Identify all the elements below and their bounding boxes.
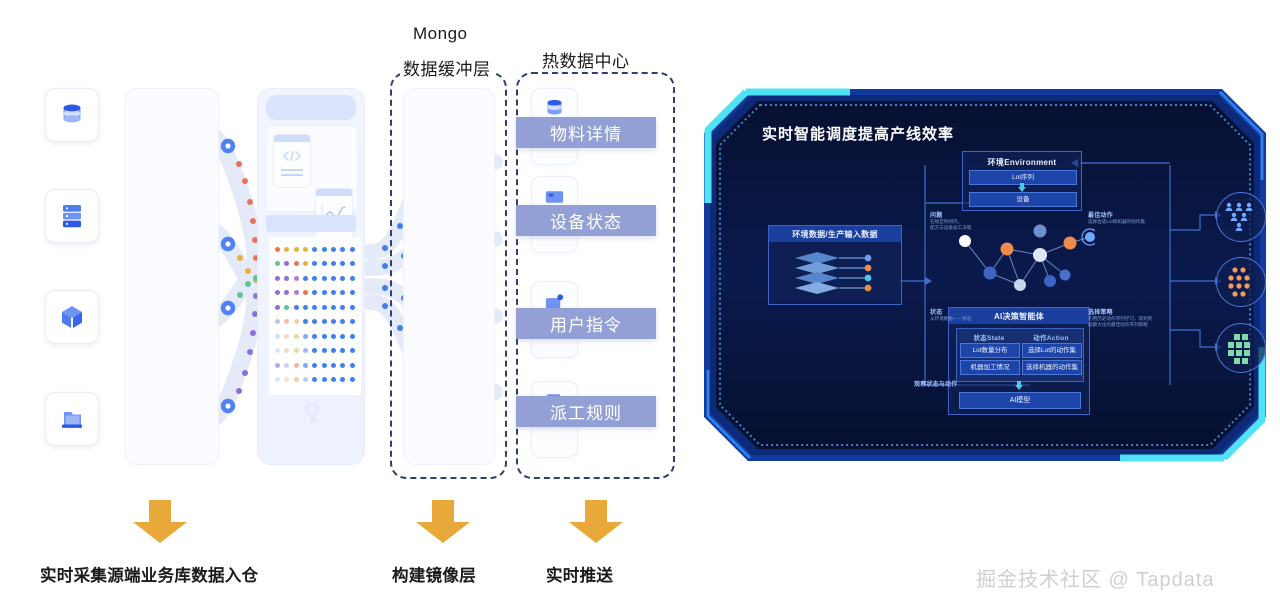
- down-arrow-icon: [1014, 381, 1024, 390]
- note-state: 状态 从环境数据——状态: [930, 307, 990, 322]
- zone-mongo-label-line1: Mongo: [413, 24, 467, 44]
- environment-title: 环境Environment: [963, 157, 1081, 168]
- note-policy-body: 利用历史动作序列学习，得到奖励最大化的最佳动作序列策略: [1088, 316, 1154, 328]
- output-badge-people: [1216, 192, 1266, 242]
- environment-box: 环境Environment Lot序列 设备: [962, 151, 1082, 211]
- tapdata-logo: [302, 401, 322, 425]
- folder-icon: [58, 406, 86, 432]
- squares-icon: [1225, 332, 1257, 364]
- watermark: 掘金技术社区 @ Tapdata: [976, 563, 1215, 592]
- ai-agent-title: AI决策智能体: [994, 311, 1044, 322]
- ai-model-chip[interactable]: AI模型: [959, 392, 1081, 409]
- caption-2: 实时推送: [546, 562, 613, 586]
- tower-screen: [266, 125, 358, 212]
- agent-col-head-1: 动作Action: [1021, 332, 1081, 342]
- note-problem-title: 问题: [930, 210, 990, 219]
- device-icon: [543, 187, 566, 207]
- agent-state-item-1[interactable]: 机器加工情况: [960, 360, 1020, 375]
- diagram-canvas: Mongo 数据缓冲层 热数据中心 物料详情 设备状态 用户指令 派工规则: [0, 0, 1280, 612]
- agent-state-item-0[interactable]: Lot数量分布: [960, 343, 1020, 358]
- zone-mongo-buffer: [390, 72, 507, 479]
- input-data-title: 环境数据/生产输入数据: [792, 229, 878, 240]
- stacked-layers-icon: [791, 248, 881, 298]
- agent-col-head-0: 状态State: [959, 332, 1019, 342]
- note-problem-body: 在规定时间内， 配方与设备加工决策: [930, 219, 990, 231]
- hot-card-label-0[interactable]: 物料详情: [516, 117, 656, 148]
- note-best-action-title: 最佳动作: [1088, 210, 1150, 219]
- hot-card-label-2[interactable]: 用户指令: [516, 308, 656, 339]
- arrow-2: [563, 500, 629, 544]
- code-icon: [282, 150, 302, 162]
- caption-0: 实时采集源端业务库数据入仓: [40, 562, 258, 586]
- server-icon: [59, 202, 85, 230]
- dots-icon: [1225, 266, 1257, 298]
- note-observe: 观察状态与动作: [914, 379, 957, 388]
- caption-1: 构建镜像层: [392, 562, 476, 586]
- note-best-action: 最佳动作 选择合适Lot和机器的动作集: [1088, 210, 1150, 225]
- note-problem: 问题 在规定时间内， 配方与设备加工决策: [930, 210, 990, 231]
- zone-hot-label: 热数据中心: [538, 47, 634, 72]
- database-icon: [58, 101, 86, 129]
- zone-mongo-label-line2: 数据缓冲层: [400, 55, 494, 80]
- note-best-action-body: 选择合适Lot和机器的动作集: [1088, 219, 1150, 225]
- source-card-database[interactable]: [45, 88, 99, 142]
- source-card-folder[interactable]: [45, 392, 99, 446]
- output-badge-dots: [1216, 257, 1266, 307]
- source-card-cube[interactable]: [45, 290, 99, 344]
- ai-agent-box: AI决策智能体 状态State 动作Action Lot数量分布 机器加工情况 …: [948, 307, 1090, 415]
- note-policy: 选择策略 利用历史动作序列学习，得到奖励最大化的最佳动作序列策略: [1088, 307, 1154, 328]
- down-arrow-icon: [1017, 183, 1027, 192]
- tapdata-server-tower: [257, 88, 365, 465]
- cube-icon: [58, 303, 86, 331]
- source-stage-panel: [125, 88, 219, 465]
- hot-card-label-3[interactable]: 派工规则: [516, 396, 656, 427]
- smart-scheduling-panel: 实时智能调度提高产线效率: [700, 85, 1270, 465]
- people-icon: [1224, 202, 1258, 232]
- arrow-0: [127, 500, 193, 544]
- note-policy-title: 选择策略: [1088, 307, 1154, 316]
- tower-header: [266, 95, 356, 120]
- arrow-1: [410, 500, 476, 544]
- hot-card-label-1[interactable]: 设备状态: [516, 205, 656, 236]
- output-badge-squares: [1216, 323, 1266, 373]
- tower-divider: [266, 215, 356, 232]
- agent-action-item-0[interactable]: 选择Lot的动作集: [1022, 343, 1082, 358]
- source-card-server[interactable]: [45, 189, 99, 243]
- environment-item-1[interactable]: 设备: [969, 192, 1077, 207]
- code-panel: [273, 134, 311, 188]
- data-matrix: [269, 237, 361, 395]
- agent-action-item-1[interactable]: 选择机器的动作集: [1022, 360, 1082, 375]
- note-state-body: 从环境数据——状态: [930, 316, 990, 322]
- input-data-box: 环境数据/生产输入数据: [768, 225, 902, 305]
- note-state-title: 状态: [930, 307, 990, 316]
